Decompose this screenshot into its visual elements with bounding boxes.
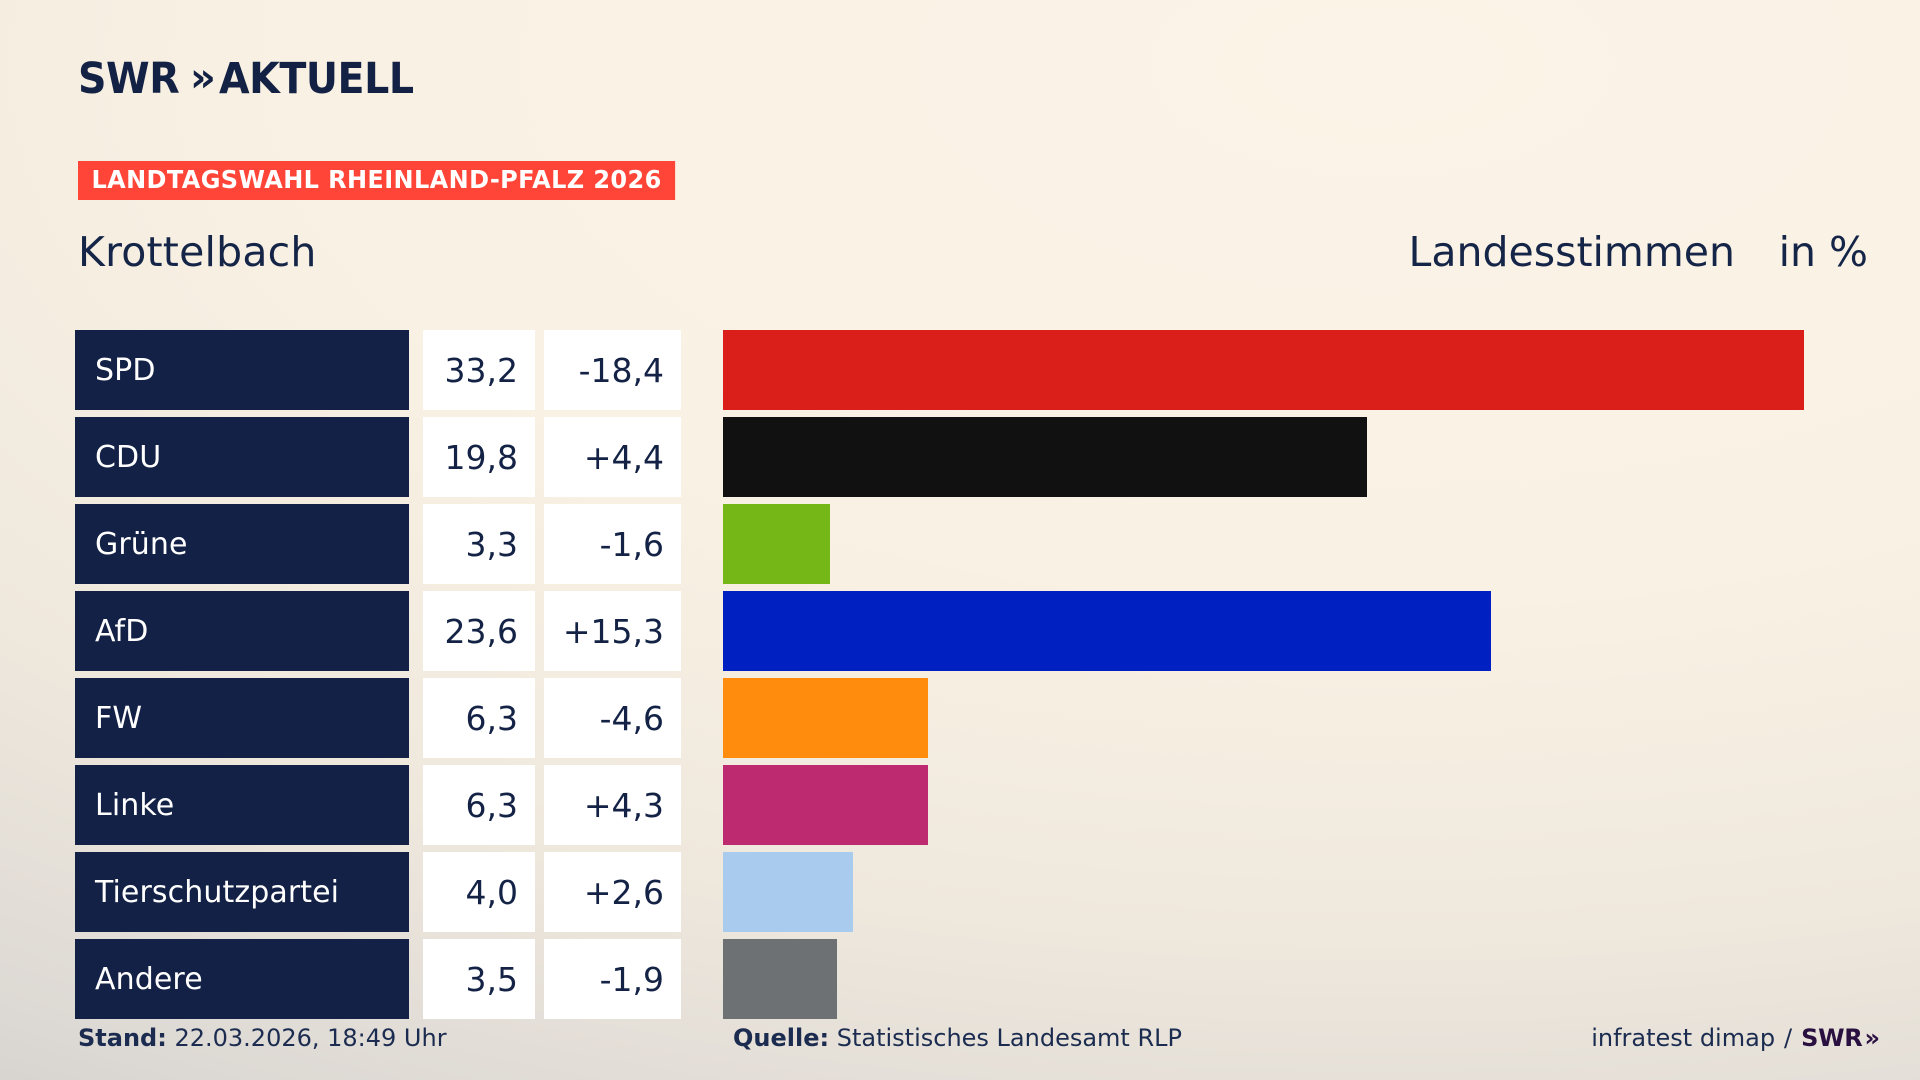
results-bar-chart: SPD33,2-18,4CDU19,8+4,4Grüne3,3-1,6AfD23… — [75, 330, 1885, 1026]
party-share-cell: 33,2 — [423, 330, 535, 410]
footer-stand: Stand: 22.03.2026, 18:49 Uhr — [78, 1024, 447, 1052]
chart-row: FW6,3-4,6 — [75, 678, 1885, 758]
logo-text-aktuell: AKTUELL — [219, 58, 414, 101]
bar-track — [723, 678, 1885, 758]
place-name: Krottelbach — [78, 228, 317, 276]
subheader: Krottelbach Landesstimmen in % — [0, 228, 1920, 282]
party-share-cell: 3,5 — [423, 939, 535, 1019]
party-name-cell: FW — [75, 678, 409, 758]
party-name-cell: Andere — [75, 939, 409, 1019]
party-change-cell: -4,6 — [544, 678, 681, 758]
party-bar — [723, 765, 928, 845]
party-name-cell: SPD — [75, 330, 409, 410]
party-change-cell: +4,4 — [544, 417, 681, 497]
footer-stand-label: Stand: — [78, 1024, 167, 1052]
footer-quelle: Quelle: Statistisches Landesamt RLP — [733, 1024, 1182, 1052]
party-share-cell: 6,3 — [423, 765, 535, 845]
party-change-cell: -18,4 — [544, 330, 681, 410]
chart-row: Tierschutzpartei4,0+2,6 — [75, 852, 1885, 932]
party-name-cell: AfD — [75, 591, 409, 671]
party-name-cell: Tierschutzpartei — [75, 852, 409, 932]
footer-quelle-label: Quelle: — [733, 1024, 829, 1052]
footer-quelle-value: Statistisches Landesamt RLP — [837, 1024, 1182, 1052]
party-name-cell: CDU — [75, 417, 409, 497]
party-bar — [723, 417, 1367, 497]
party-change-cell: -1,6 — [544, 504, 681, 584]
party-name-cell: Linke — [75, 765, 409, 845]
vote-type-label: Landesstimmen — [1409, 228, 1735, 276]
party-share-cell: 3,3 — [423, 504, 535, 584]
party-bar — [723, 852, 853, 932]
party-change-cell: +4,3 — [544, 765, 681, 845]
party-share-cell: 19,8 — [423, 417, 535, 497]
bar-track — [723, 852, 1885, 932]
bar-track — [723, 591, 1885, 671]
chart-row: Grüne3,3-1,6 — [75, 504, 1885, 584]
party-bar — [723, 678, 928, 758]
footer: Stand: 22.03.2026, 18:49 Uhr Quelle: Sta… — [0, 1024, 1920, 1058]
party-bar — [723, 939, 837, 1019]
chart-row: SPD33,2-18,4 — [75, 330, 1885, 410]
footer-broadcaster: SWR» — [1801, 1024, 1875, 1052]
logo-text-swr: SWR — [78, 58, 179, 101]
swr-aktuell-logo: SWR » AKTUELL — [78, 52, 430, 106]
party-bar — [723, 504, 830, 584]
chart-row: Andere3,5-1,9 — [75, 939, 1885, 1019]
bar-track — [723, 504, 1885, 584]
footer-stand-value: 22.03.2026, 18:49 Uhr — [174, 1024, 446, 1052]
bar-track — [723, 939, 1885, 1019]
party-change-cell: -1,9 — [544, 939, 681, 1019]
election-kicker-badge: LANDTAGSWAHL RHEINLAND-PFALZ 2026 — [78, 161, 675, 200]
chart-row: Linke6,3+4,3 — [75, 765, 1885, 845]
party-share-cell: 4,0 — [423, 852, 535, 932]
footer-separator: / — [1784, 1024, 1792, 1052]
party-name-cell: Grüne — [75, 504, 409, 584]
chart-row: CDU19,8+4,4 — [75, 417, 1885, 497]
footer-credits: infratest dimap / SWR» — [1591, 1024, 1875, 1052]
chevron-double-right-icon: » — [1864, 1024, 1875, 1052]
party-bar — [723, 591, 1491, 671]
bar-track — [723, 765, 1885, 845]
chart-row: AfD23,6+15,3 — [75, 591, 1885, 671]
footer-pollster: infratest dimap — [1591, 1024, 1775, 1052]
footer-broadcaster-text: SWR — [1801, 1024, 1862, 1052]
party-bar — [723, 330, 1804, 410]
chevron-double-right-icon: » — [190, 58, 210, 98]
party-change-cell: +2,6 — [544, 852, 681, 932]
bar-track — [723, 330, 1885, 410]
party-share-cell: 23,6 — [423, 591, 535, 671]
bar-track — [723, 417, 1885, 497]
party-share-cell: 6,3 — [423, 678, 535, 758]
unit-label: in % — [1779, 228, 1868, 276]
infographic-root: SWR » AKTUELL LANDTAGSWAHL RHEINLAND-PFA… — [0, 0, 1920, 1080]
party-change-cell: +15,3 — [544, 591, 681, 671]
